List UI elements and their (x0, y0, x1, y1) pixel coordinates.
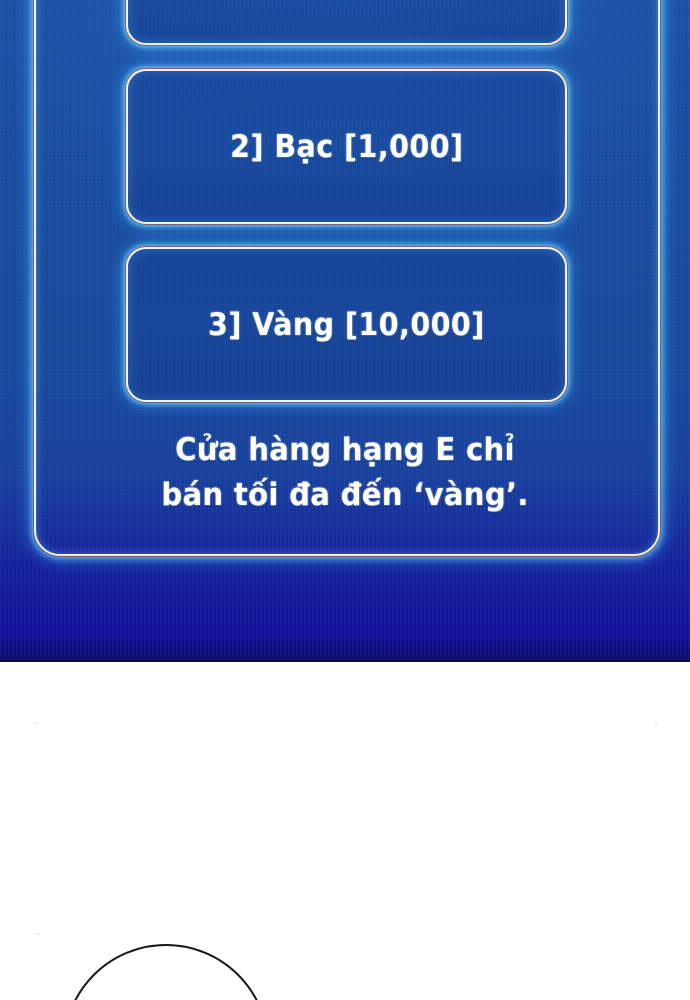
menu-option-2-label: 2] Bạc [1,000] (230, 129, 463, 165)
panel-gutter (0, 662, 690, 1000)
menu-option-1-button[interactable] (126, 0, 567, 45)
menu-option-3-button[interactable]: 3] Vàng [10,000] (126, 247, 567, 402)
system-window-panel: 2] Bạc [1,000] 3] Vàng [10,000] Cửa hàng… (0, 0, 690, 662)
shop-rank-note-line-2: bán tối đa đến ‘vàng’. (21, 473, 670, 518)
menu-option-2-button[interactable]: 2] Bạc [1,000] (126, 69, 567, 224)
shop-rank-note-line-1: Cửa hàng hạng E chỉ (21, 428, 670, 473)
paper-speck (35, 722, 38, 724)
paper-speck (655, 724, 658, 726)
shop-rank-note: Cửa hàng hạng E chỉ bán tối đa đến ‘vàng… (0, 428, 690, 518)
comic-page: 2] Bạc [1,000] 3] Vàng [10,000] Cửa hàng… (0, 0, 690, 1000)
paper-speck (36, 933, 39, 935)
menu-option-3-label: 3] Vàng [10,000] (208, 307, 485, 343)
